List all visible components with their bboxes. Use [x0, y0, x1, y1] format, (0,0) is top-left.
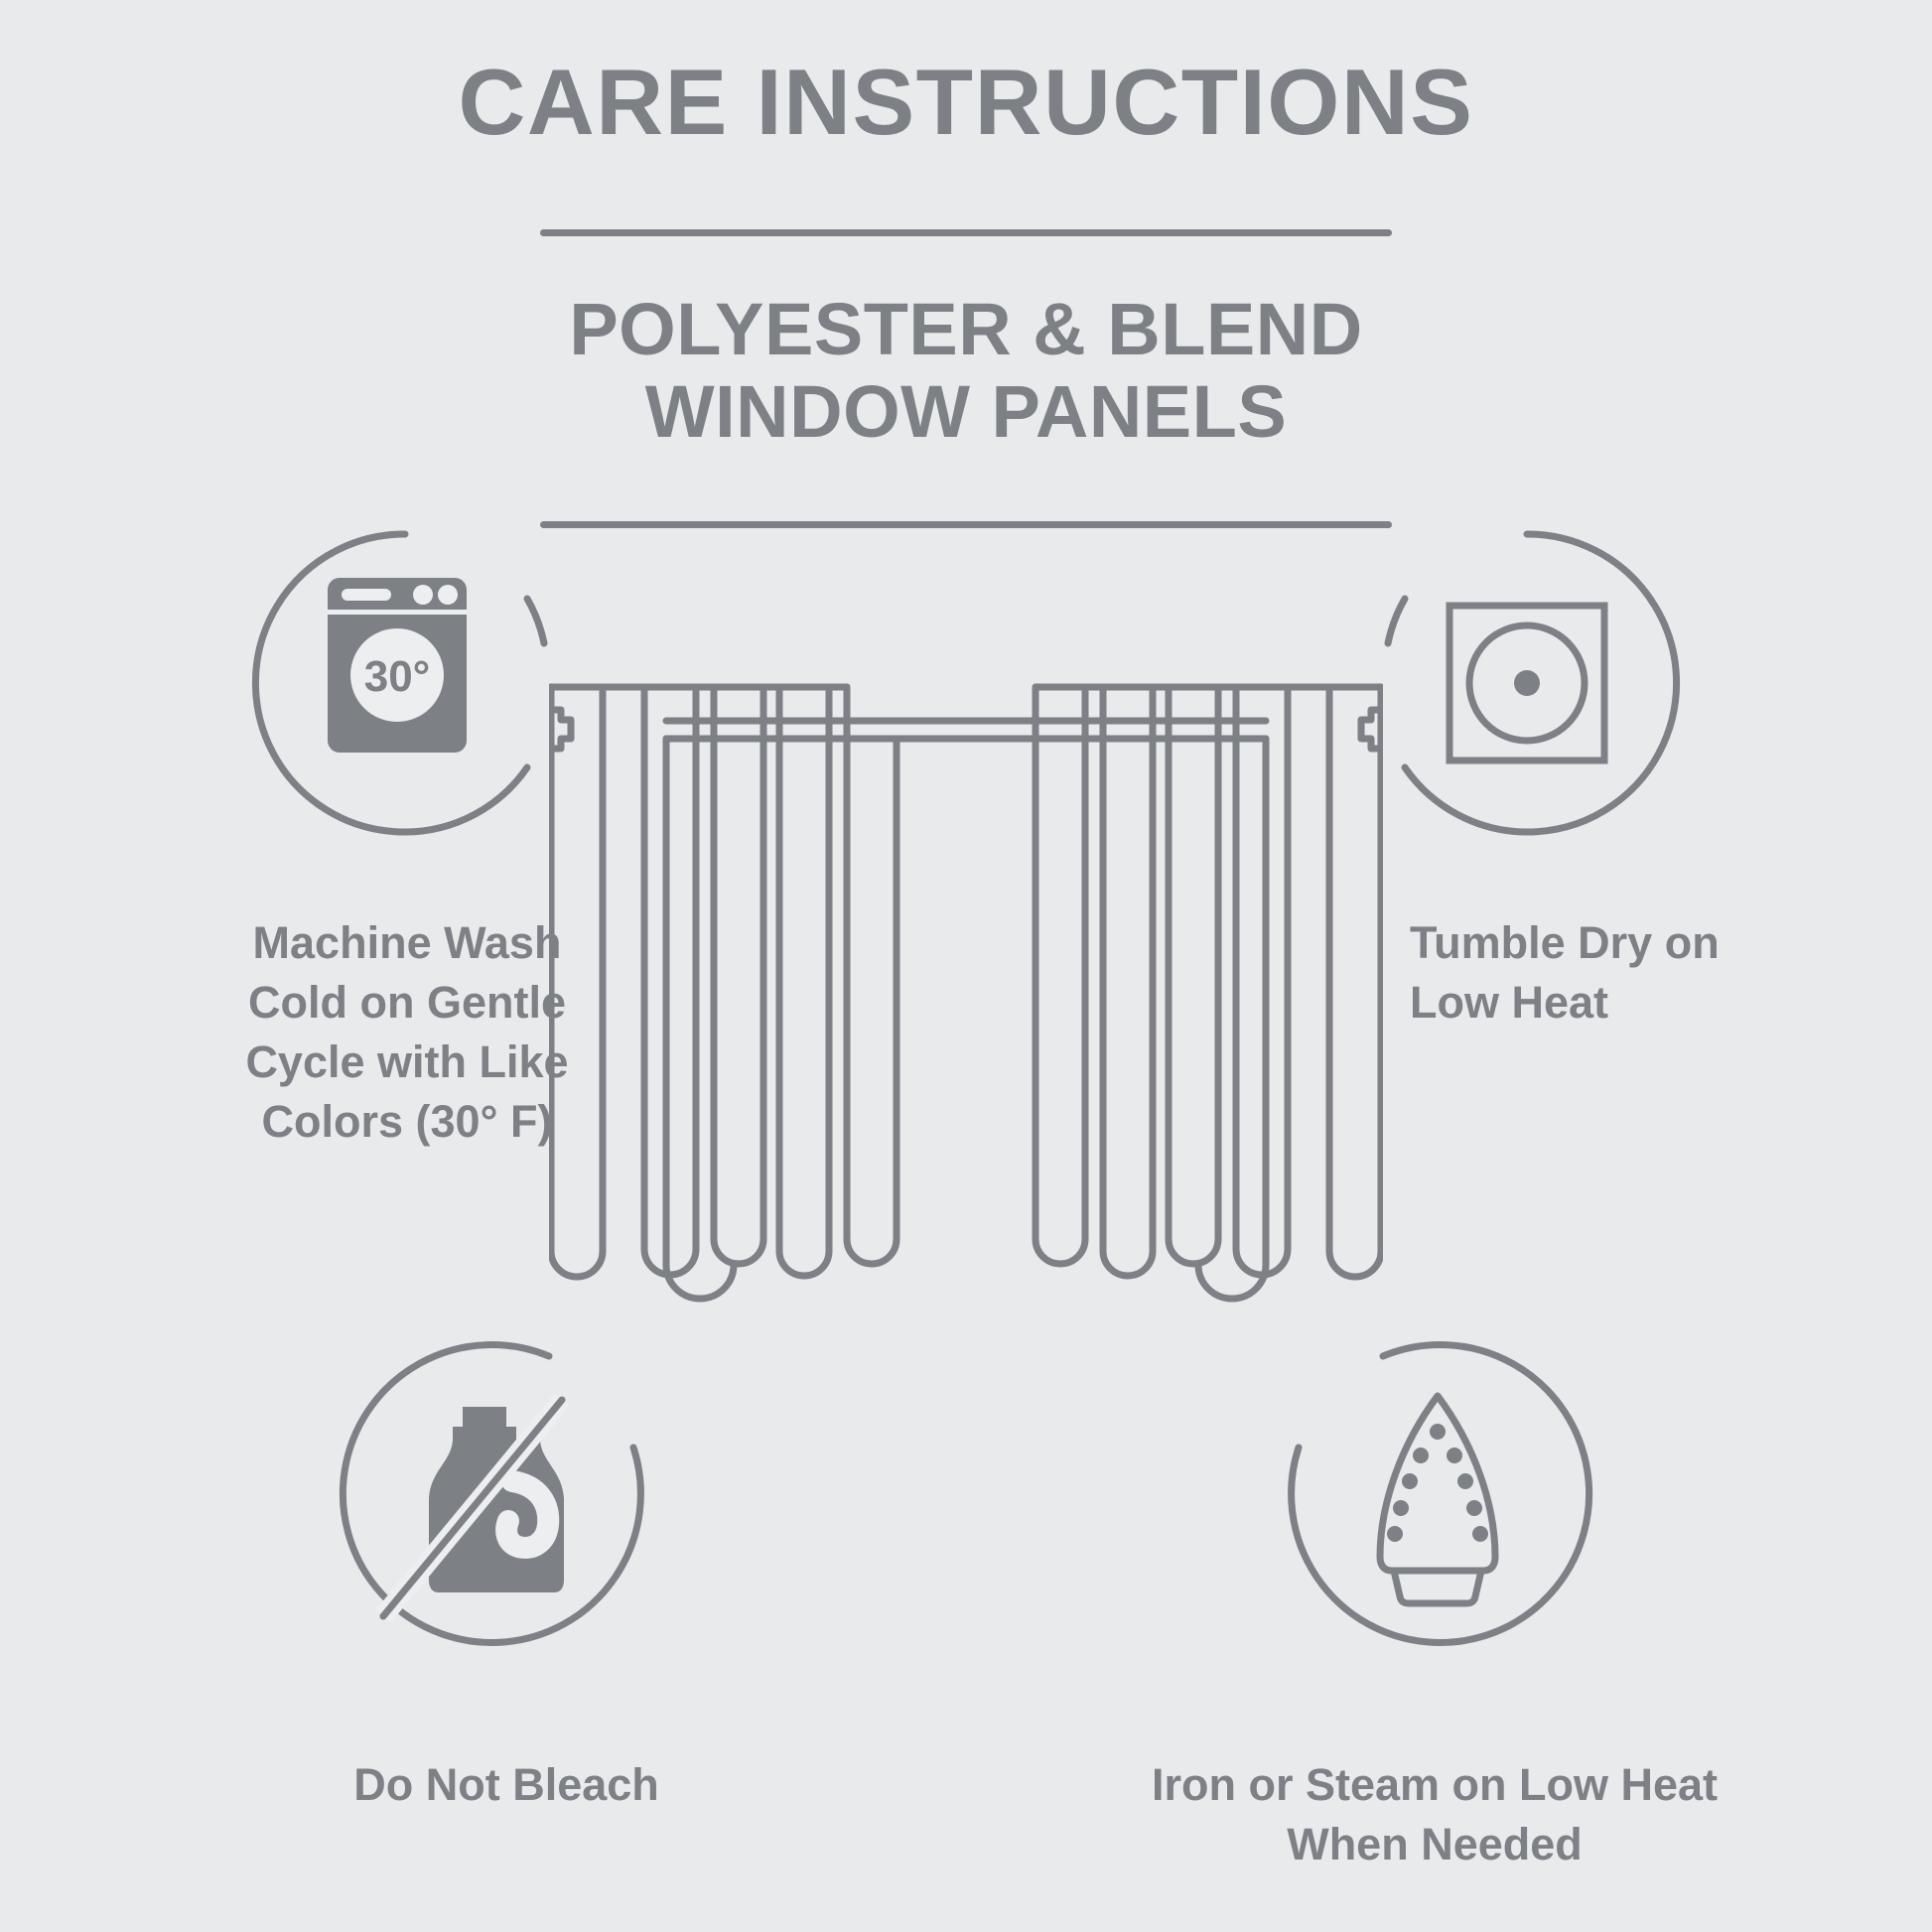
- page-title: CARE INSTRUCTIONS: [0, 54, 1932, 152]
- iron-steam-hole: [1402, 1473, 1418, 1489]
- divider-top: [540, 229, 1392, 236]
- iron-soleplate: [1380, 1396, 1495, 1571]
- washer-knob-1: [413, 585, 433, 605]
- iron-steam-hole: [1457, 1473, 1473, 1489]
- panel-right-fold: [1198, 739, 1266, 1299]
- panel-left-pleat-4: [847, 687, 897, 1264]
- panel-right-pleat-2: [1169, 687, 1218, 1264]
- badge-ring-iron: [1292, 1344, 1589, 1642]
- iron-steam-hole: [1466, 1500, 1482, 1516]
- washer-control-slot: [342, 589, 391, 601]
- bleach-cap: [463, 1407, 506, 1427]
- do-not-bleach-badge[interactable]: [336, 1334, 653, 1652]
- divider-bottom: [540, 521, 1392, 528]
- header: CARE INSTRUCTIONS POLYESTER & BLEND WIND…: [0, 54, 1932, 528]
- do-not-bleach-caption: Do Not Bleach: [199, 1755, 814, 1815]
- iron-steam-hole: [1413, 1448, 1429, 1463]
- washer-temperature-label: 30°: [364, 652, 431, 701]
- tumble-dry-low-icon: [1368, 524, 1686, 842]
- panel-right-pleat-1: [1236, 687, 1288, 1275]
- badge-ring-wash-arc2: [527, 599, 544, 643]
- washing-machine-icon: 30°: [246, 524, 564, 842]
- tumble-dry-badge[interactable]: [1368, 524, 1686, 842]
- washer-panel-divider: [328, 610, 467, 615]
- badge-ring-dry-arc2: [1388, 599, 1405, 643]
- machine-wash-badge[interactable]: 30°: [246, 524, 564, 842]
- badge-ring-dry: [1405, 534, 1677, 832]
- tumble-dry-caption: Tumble Dry on Low Heat: [1410, 913, 1906, 1033]
- iron-badge[interactable]: [1279, 1334, 1596, 1652]
- iron-steam-hole: [1430, 1424, 1446, 1440]
- care-instructions-page: CARE INSTRUCTIONS POLYESTER & BLEND WIND…: [0, 0, 1932, 1932]
- iron-steam-hole: [1393, 1500, 1409, 1516]
- iron-base: [1394, 1571, 1481, 1603]
- iron-steam-hole: [1387, 1526, 1403, 1542]
- iron-steam-hole: [1472, 1526, 1488, 1542]
- page-subtitle: POLYESTER & BLEND WINDOW PANELS: [0, 288, 1932, 454]
- bleach-neck: [453, 1427, 516, 1441]
- panel-left-pleat-3: [779, 687, 829, 1276]
- iron-steam-hole: [1447, 1448, 1462, 1463]
- page-subtitle-line1: POLYESTER & BLEND: [0, 288, 1932, 371]
- steam-iron-icon: [1279, 1334, 1596, 1652]
- machine-wash-caption: Machine Wash Cold on Gentle Cycle with L…: [60, 913, 755, 1151]
- page-subtitle-line2: WINDOW PANELS: [0, 370, 1932, 454]
- panel-right-pleat-3: [1103, 687, 1153, 1276]
- washer-knob-2: [438, 585, 458, 605]
- iron-caption: Iron or Steam on Low Heat When Needed: [1042, 1755, 1827, 1874]
- panel-right-pleat-4: [1035, 687, 1085, 1264]
- dryer-heat-dot: [1514, 670, 1540, 696]
- no-bleach-icon: [336, 1334, 653, 1652]
